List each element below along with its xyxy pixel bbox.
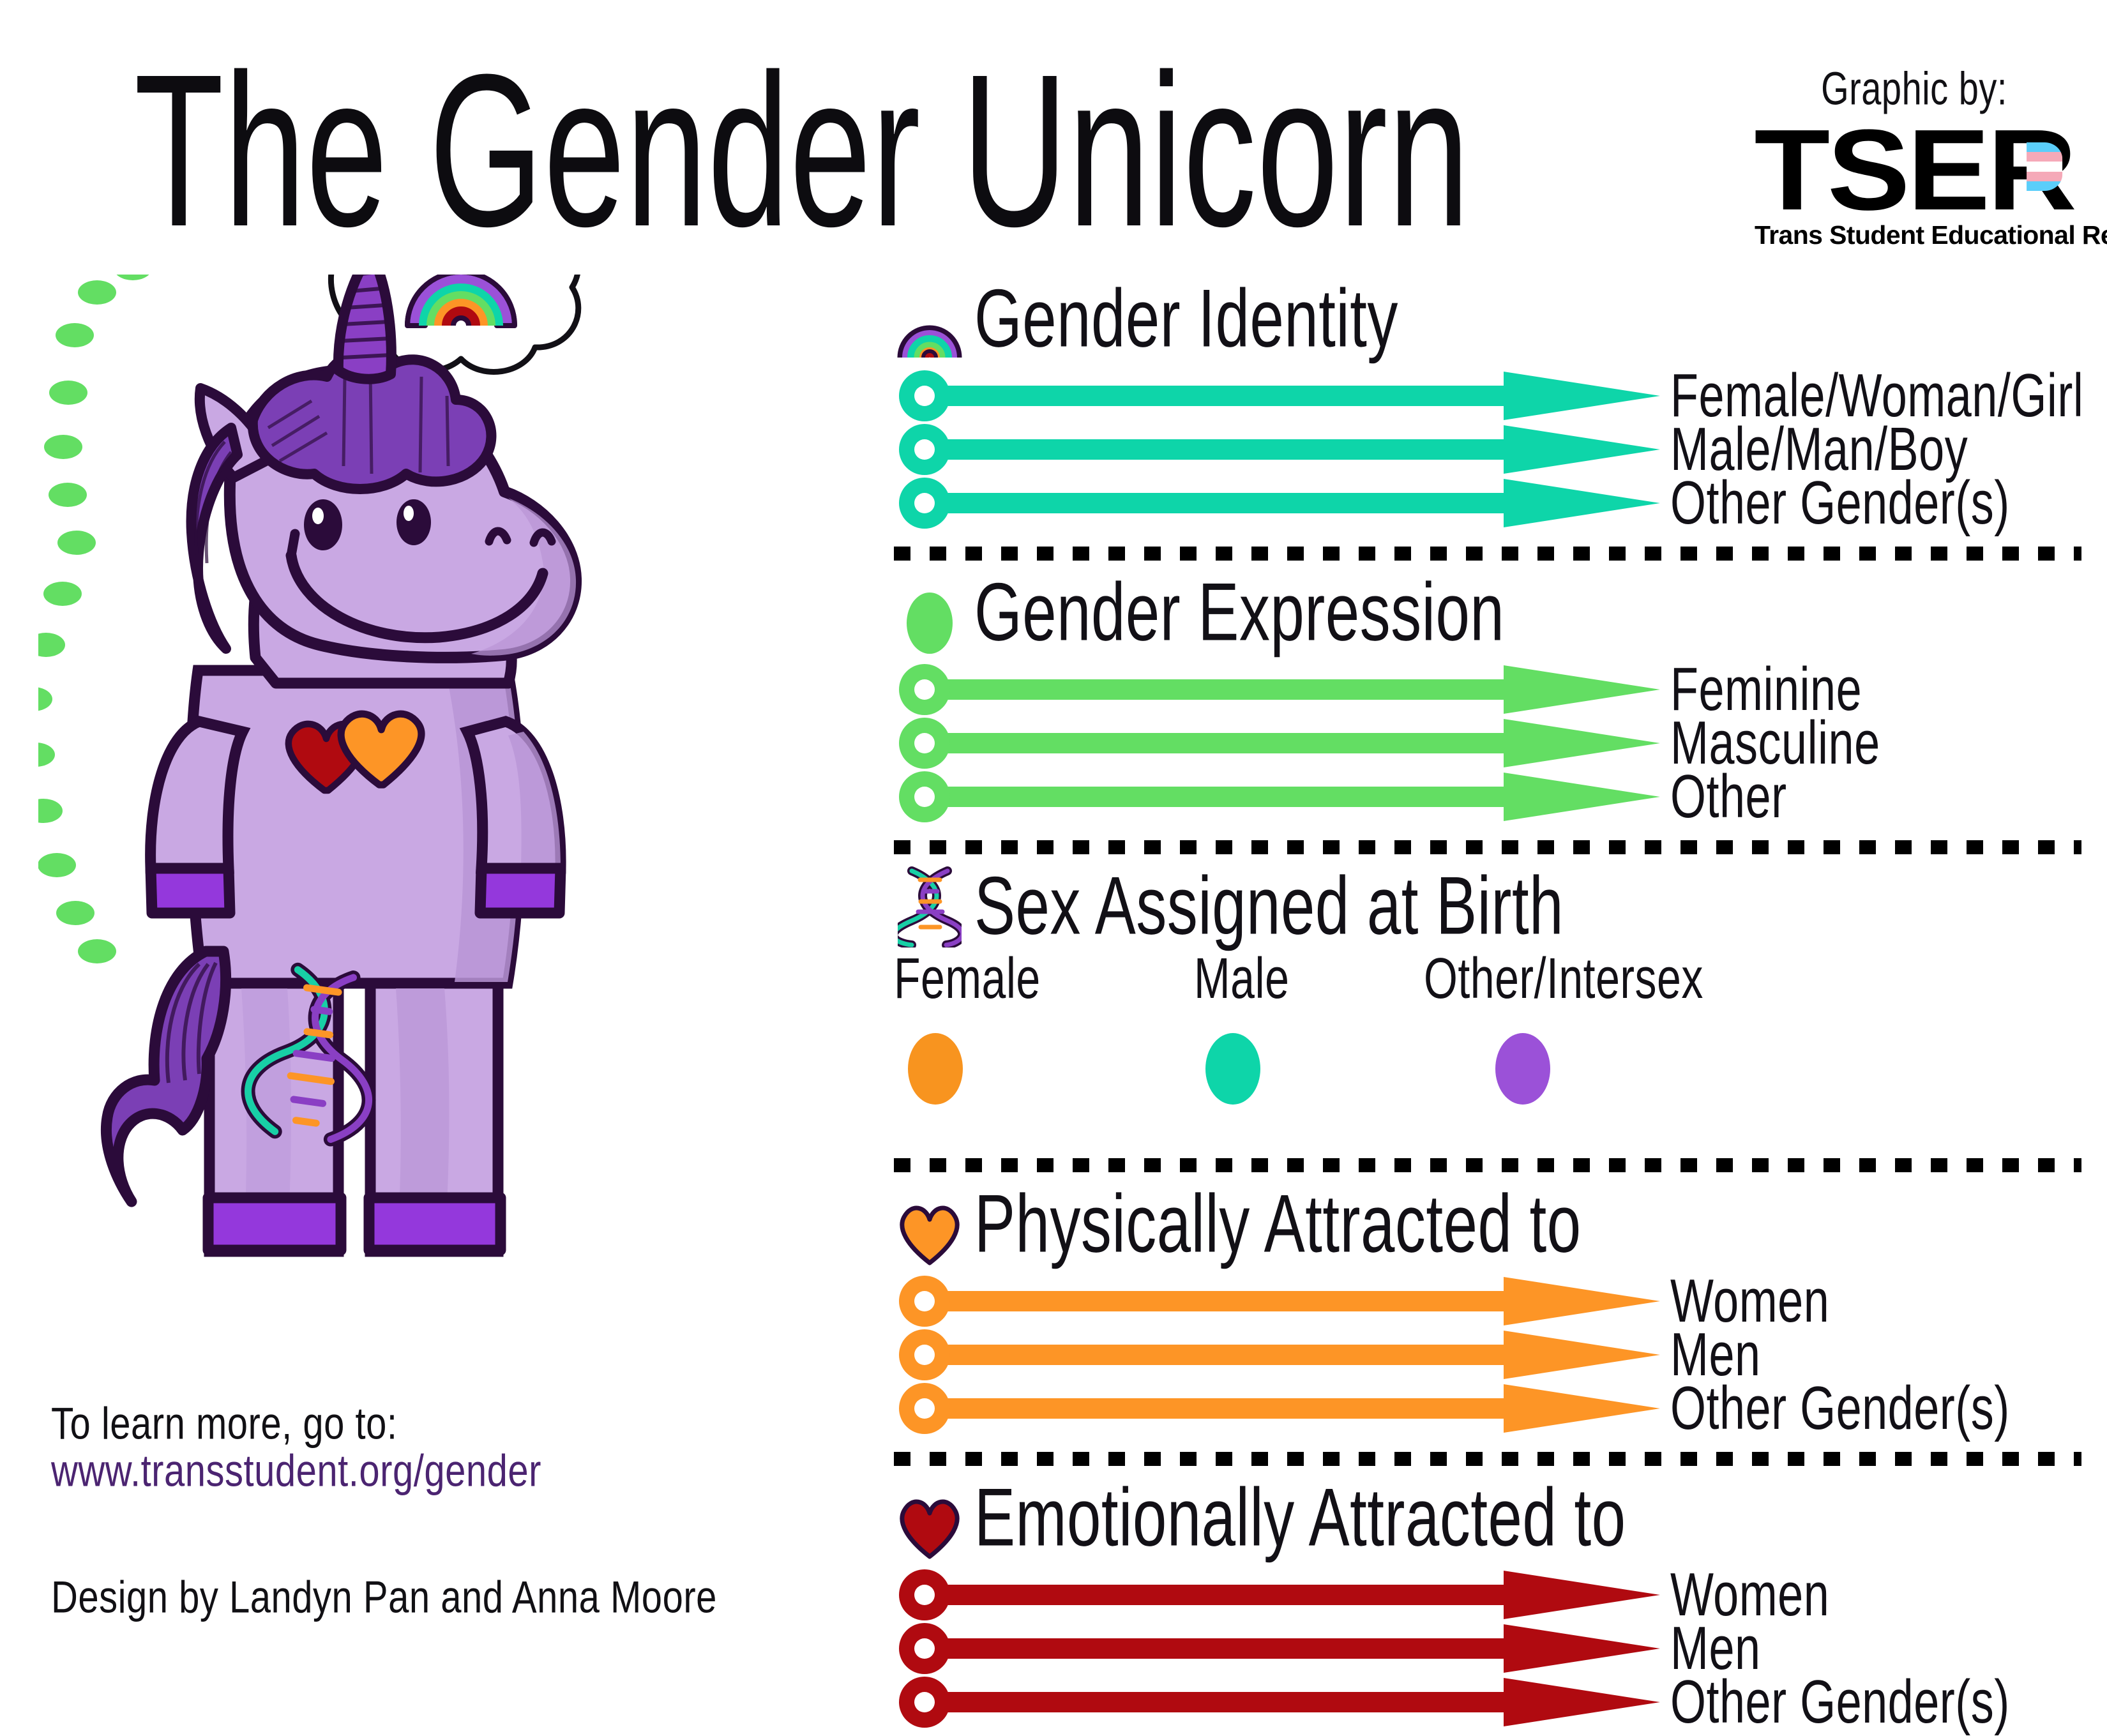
tser-logo: Graphic by: TSER Trans Student Education… xyxy=(1755,61,2074,250)
sab-option-female[interactable]: Female xyxy=(894,950,1041,1105)
spectrum-arrow[interactable] xyxy=(894,1677,1660,1728)
spectrum-label: Other Gender(s) xyxy=(1670,1672,2010,1733)
section-header: Sex Assigned at Birth xyxy=(894,868,2081,947)
spectrum-arrow[interactable] xyxy=(894,1276,1660,1327)
green-dot-arc xyxy=(38,275,152,963)
sab-label: Female xyxy=(894,950,1041,1008)
sab-dot-grid: Female Male Other/Intersex xyxy=(894,950,2081,1142)
sab-option-other-intersex[interactable]: Other/Intersex xyxy=(1424,950,1703,1105)
spectrum-arrow[interactable] xyxy=(894,664,1660,715)
arrow-row: Male/Man/Boy xyxy=(894,423,2081,476)
tser-wordmark: TSER xyxy=(1754,117,2074,224)
spectrum-arrow[interactable] xyxy=(894,424,1660,475)
orange-heart-icon xyxy=(894,1205,965,1265)
section-header: Gender Identity xyxy=(894,281,2081,360)
unicorn-body xyxy=(106,275,576,1251)
spectrum-arrow[interactable] xyxy=(894,478,1660,529)
spectrum-label: Other Gender(s) xyxy=(1670,1378,2010,1439)
spectrum-arrow[interactable] xyxy=(894,1569,1660,1620)
spectrum-label: Men xyxy=(1670,1618,1761,1679)
red-heart-icon xyxy=(894,1499,965,1559)
sab-label: Male xyxy=(1194,950,1289,1008)
arrow-row: Men xyxy=(894,1622,2081,1675)
trans-flag-icon xyxy=(2027,142,2062,191)
section-sex-assigned-at-birth: Sex Assigned at Birth Female Male Other/… xyxy=(894,868,2081,1142)
section-gender-identity: Gender Identity Female/Woman/Girl xyxy=(894,281,2081,530)
arrow-rows: Female/Woman/Girl Male/Man/Boy xyxy=(894,369,2081,530)
sab-dot xyxy=(1205,1033,1260,1105)
section-divider xyxy=(894,1452,2081,1466)
section-title: Physically Attracted to xyxy=(974,1183,1582,1265)
unicorn-illustration xyxy=(38,275,881,1360)
green-dot-icon xyxy=(894,593,965,654)
spectrum-arrow[interactable] xyxy=(894,1623,1660,1674)
arrow-row: Other Gender(s) xyxy=(894,1675,2081,1729)
rainbow-icon xyxy=(894,313,965,360)
spectrum-label: Other xyxy=(1670,766,1787,827)
arrow-row: Other Gender(s) xyxy=(894,476,2081,530)
section-emotionally-attracted-to: Emotionally Attracted to Women xyxy=(894,1480,2081,1729)
arrow-row: Women xyxy=(894,1568,2081,1622)
section-header: Emotionally Attracted to xyxy=(894,1480,2081,1559)
spectrum-arrow[interactable] xyxy=(894,718,1660,769)
dna-icon xyxy=(894,866,965,947)
page-title: The Gender Unicorn xyxy=(134,20,1470,281)
sab-label: Other/Intersex xyxy=(1424,950,1703,1008)
spectrum-arrow[interactable] xyxy=(894,771,1660,822)
categories-panel: Gender Identity Female/Woman/Girl xyxy=(894,281,2081,1729)
section-header: Physically Attracted to xyxy=(894,1186,2081,1265)
section-header: Gender Expression xyxy=(894,575,2081,654)
section-title: Gender Identity xyxy=(974,278,1398,360)
design-credit: Design by Landyn Pan and Anna Moore xyxy=(51,1569,717,1626)
spectrum-arrow[interactable] xyxy=(894,370,1660,421)
section-title: Sex Assigned at Birth xyxy=(974,865,1564,947)
arrow-row: Women xyxy=(894,1274,2081,1328)
website-link[interactable]: www.transstudent.org/gender xyxy=(51,1442,817,1500)
spectrum-arrow[interactable] xyxy=(894,1329,1660,1380)
arrow-row: Other Gender(s) xyxy=(894,1382,2081,1435)
arrow-row: Female/Woman/Girl xyxy=(894,369,2081,423)
section-divider xyxy=(894,1158,2081,1172)
arrow-row: Men xyxy=(894,1328,2081,1382)
spectrum-label: Other Gender(s) xyxy=(1670,472,2010,534)
arrow-row: Feminine xyxy=(894,663,2081,716)
section-divider xyxy=(894,547,2081,561)
section-physically-attracted-to: Physically Attracted to Women xyxy=(894,1186,2081,1435)
spectrum-arrow[interactable] xyxy=(894,1383,1660,1434)
arrow-row: Masculine xyxy=(894,716,2081,770)
arrow-rows: Women Men xyxy=(894,1568,2081,1729)
section-title: Gender Expression xyxy=(974,571,1504,654)
sab-dot xyxy=(908,1033,963,1105)
arrow-row: Other xyxy=(894,770,2081,824)
section-title: Emotionally Attracted to xyxy=(974,1477,1626,1559)
sab-dot xyxy=(1495,1033,1550,1105)
sab-option-male[interactable]: Male xyxy=(1194,950,1289,1105)
section-gender-expression: Gender Expression Feminine xyxy=(894,575,2081,824)
arrow-rows: Women Men xyxy=(894,1274,2081,1435)
footer: To learn more, go to: www.transstudent.o… xyxy=(51,1395,817,1490)
arrow-rows: Feminine Masculine xyxy=(894,663,2081,824)
section-divider xyxy=(894,840,2081,854)
